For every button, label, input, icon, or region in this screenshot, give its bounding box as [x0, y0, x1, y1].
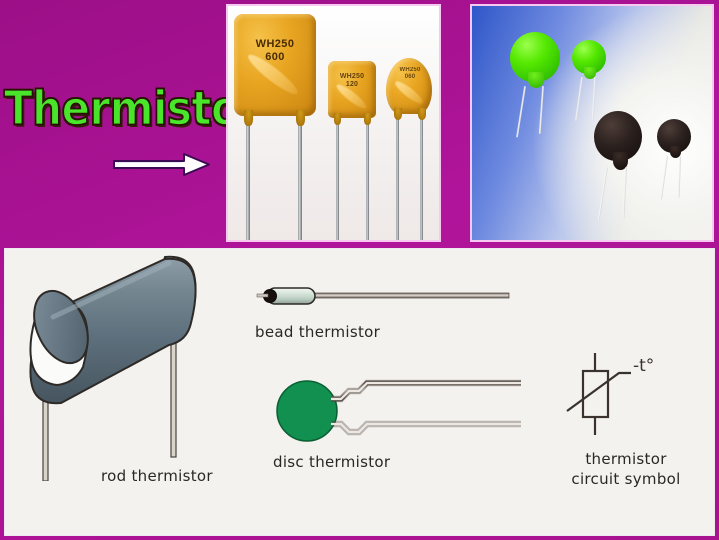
diagram-panel: rod thermistor	[4, 248, 715, 536]
thermistor-circuit-symbol: -t° thermistor circuit symbol	[561, 349, 691, 449]
page-title: Thermistor	[4, 81, 220, 136]
coated-disc-thermistor-photo	[470, 4, 714, 242]
disc-thermistor-caption: disc thermistor	[273, 453, 390, 471]
right-arrow-icon	[112, 152, 212, 178]
poster-root: Thermistor WH250 600	[0, 0, 719, 540]
bead-thermistor-caption: bead thermistor	[255, 323, 380, 341]
green-thermistor-small	[572, 40, 608, 100]
bead-thermistor: bead thermistor	[253, 285, 513, 325]
green-thermistor-large	[510, 32, 560, 104]
ptc-part-large: WH250 600	[234, 14, 316, 242]
circuit-symbol-caption-line2: circuit symbol	[571, 470, 680, 488]
circuit-symbol-caption-line1: thermistor	[585, 450, 666, 468]
ptc-thermistor-photo: WH250 600 WH250 120 WH25	[226, 4, 441, 242]
ptc-part-medium: WH250 120	[328, 61, 376, 242]
black-thermistor-large	[594, 111, 644, 191]
rod-thermistor: rod thermistor	[13, 251, 263, 481]
title-block: Thermistor	[0, 0, 222, 246]
disc-thermistor: disc thermistor	[275, 369, 525, 459]
symbol-annotation: -t°	[633, 356, 654, 376]
rod-thermistor-caption: rod thermistor	[101, 467, 213, 485]
circuit-symbol-caption: thermistor circuit symbol	[547, 449, 705, 490]
ptc-part-small: WH250 060	[386, 58, 434, 242]
black-thermistor-small	[657, 119, 693, 185]
